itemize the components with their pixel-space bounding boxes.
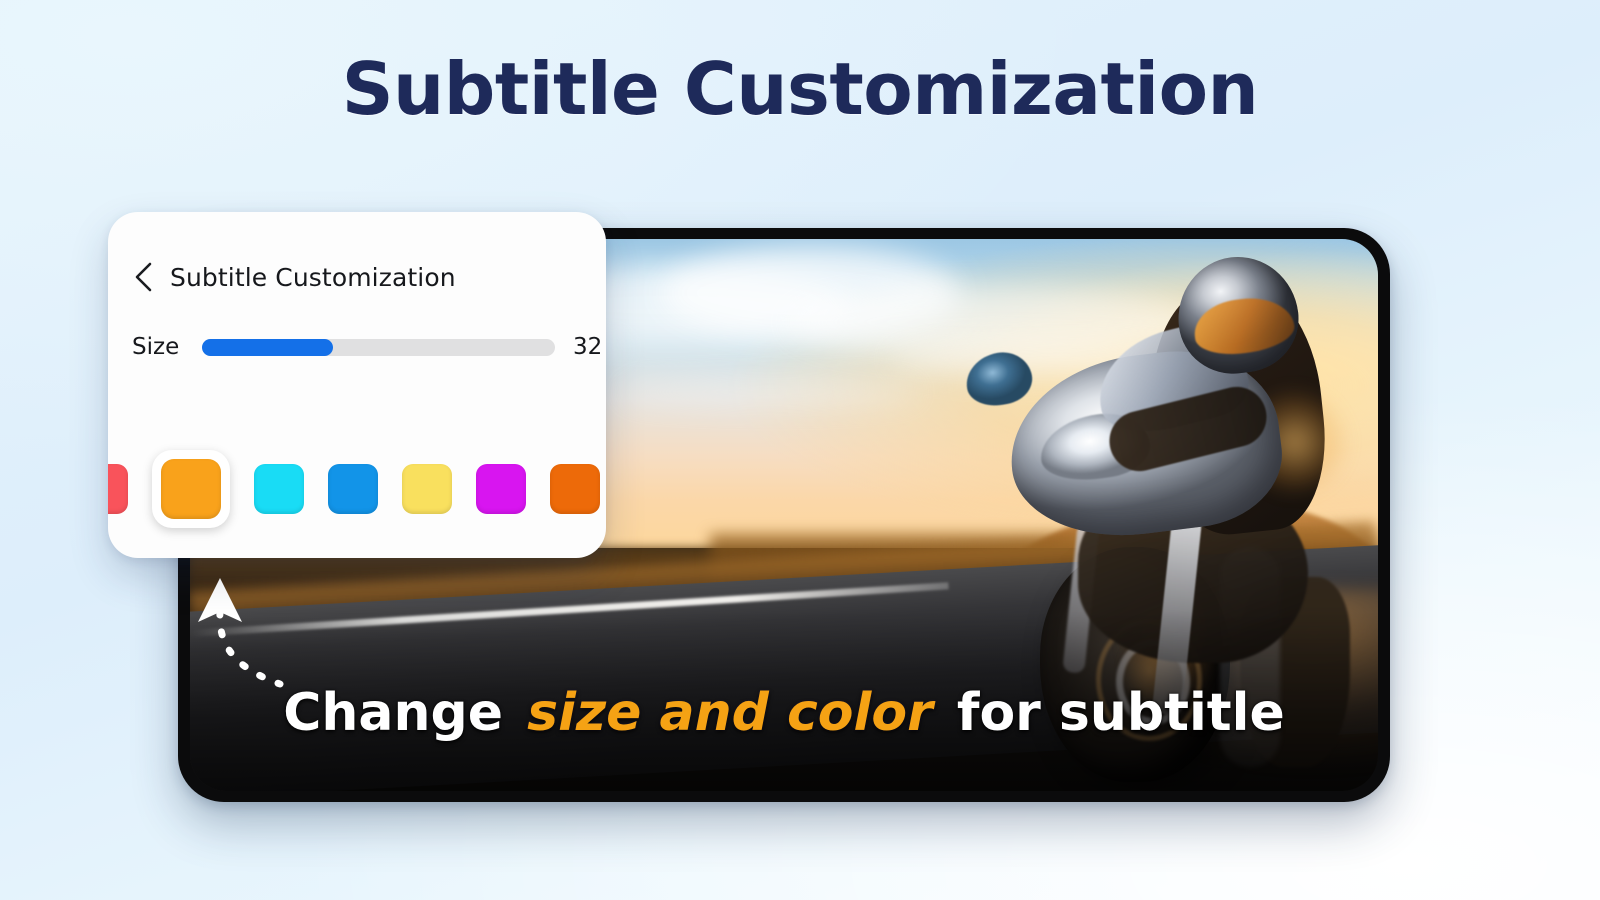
card-header: Subtitle Customization — [108, 212, 606, 292]
chevron-left-icon[interactable] — [132, 262, 154, 292]
subtitle-word-1: Change — [283, 683, 503, 743]
color-swatch-magenta[interactable] — [476, 464, 526, 514]
swatch-chip — [108, 464, 128, 514]
swatch-chip — [550, 464, 600, 514]
size-value: 32 — [573, 334, 602, 360]
size-label: Size — [132, 334, 184, 360]
color-swatch-yellow[interactable] — [402, 464, 452, 514]
motorcycle-mirror — [962, 348, 1036, 411]
color-swatch-orange-selected[interactable] — [152, 450, 230, 528]
color-swatch-orange-red[interactable] — [550, 464, 600, 514]
subtitle-customization-card: Subtitle Customization Size 32 — [108, 212, 606, 558]
page-root: Subtitle Customization — [0, 0, 1600, 900]
swatch-chip — [254, 464, 304, 514]
size-slider-fill — [202, 339, 333, 356]
swatch-chip — [476, 464, 526, 514]
color-swatch-cyan[interactable] — [254, 464, 304, 514]
swatch-chip — [328, 464, 378, 514]
color-swatch-red[interactable] — [108, 464, 128, 514]
size-slider[interactable] — [202, 339, 555, 356]
color-swatch-list — [108, 450, 600, 528]
swatch-chip — [402, 464, 452, 514]
card-title: Subtitle Customization — [170, 263, 456, 292]
page-title: Subtitle Customization — [0, 52, 1600, 128]
subtitle-word-2: size and color — [521, 683, 939, 743]
size-control-row: Size 32 — [108, 292, 606, 360]
swatch-chip — [161, 459, 221, 519]
screen-subtitle-text: Change size and color for subtitle — [190, 687, 1378, 739]
subtitle-word-3: for subtitle — [957, 683, 1285, 743]
color-swatch-blue[interactable] — [328, 464, 378, 514]
cloud — [620, 379, 920, 405]
